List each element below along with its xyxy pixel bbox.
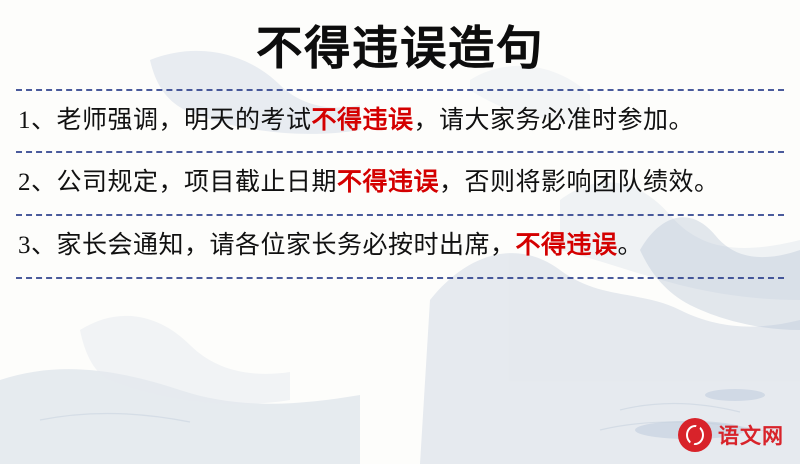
document-content: 不得违误造句 1、老师强调，明天的考试不得违误，请大家务必准时参加。 2、公司规… [0,0,800,464]
sentence-text-after: ，请大家务必准时参加。 [414,107,695,134]
page-title: 不得违误造句 [14,0,786,89]
sentence-index: 3、 [18,232,57,259]
yuwen-logo-icon [678,418,712,452]
list-item: 2、公司规定，项目截止日期不得违误，否则将影响团队绩效。 [14,153,786,214]
site-logo: 语文网 [678,418,784,452]
list-item: 1、老师强调，明天的考试不得违误，请大家务必准时参加。 [14,91,786,152]
sentence-keyword: 不得违误 [337,169,439,196]
divider-top [16,89,784,91]
sentence-text-after: 。 [618,232,644,259]
document-page: 不得违误造句 1、老师强调，明天的考试不得违误，请大家务必准时参加。 2、公司规… [0,0,800,464]
sentence-text-after: ，否则将影响团队绩效。 [439,169,720,196]
sentence-keyword: 不得违误 [516,232,618,259]
sentence-text-before: 公司规定，项目截止日期 [57,169,338,196]
divider-1 [16,151,784,153]
list-item: 3、家长会通知，请各位家长务必按时出席，不得违误。 [14,216,786,277]
sentence-index: 1、 [18,107,57,134]
divider-bottom [16,277,784,279]
sentence-index: 2、 [18,169,57,196]
site-logo-text: 语文网 [718,420,784,450]
sentence-text-before: 家长会通知，请各位家长务必按时出席， [57,232,516,259]
sentence-text-before: 老师强调，明天的考试 [57,107,312,134]
sentence-keyword: 不得违误 [312,107,414,134]
divider-2 [16,214,784,216]
